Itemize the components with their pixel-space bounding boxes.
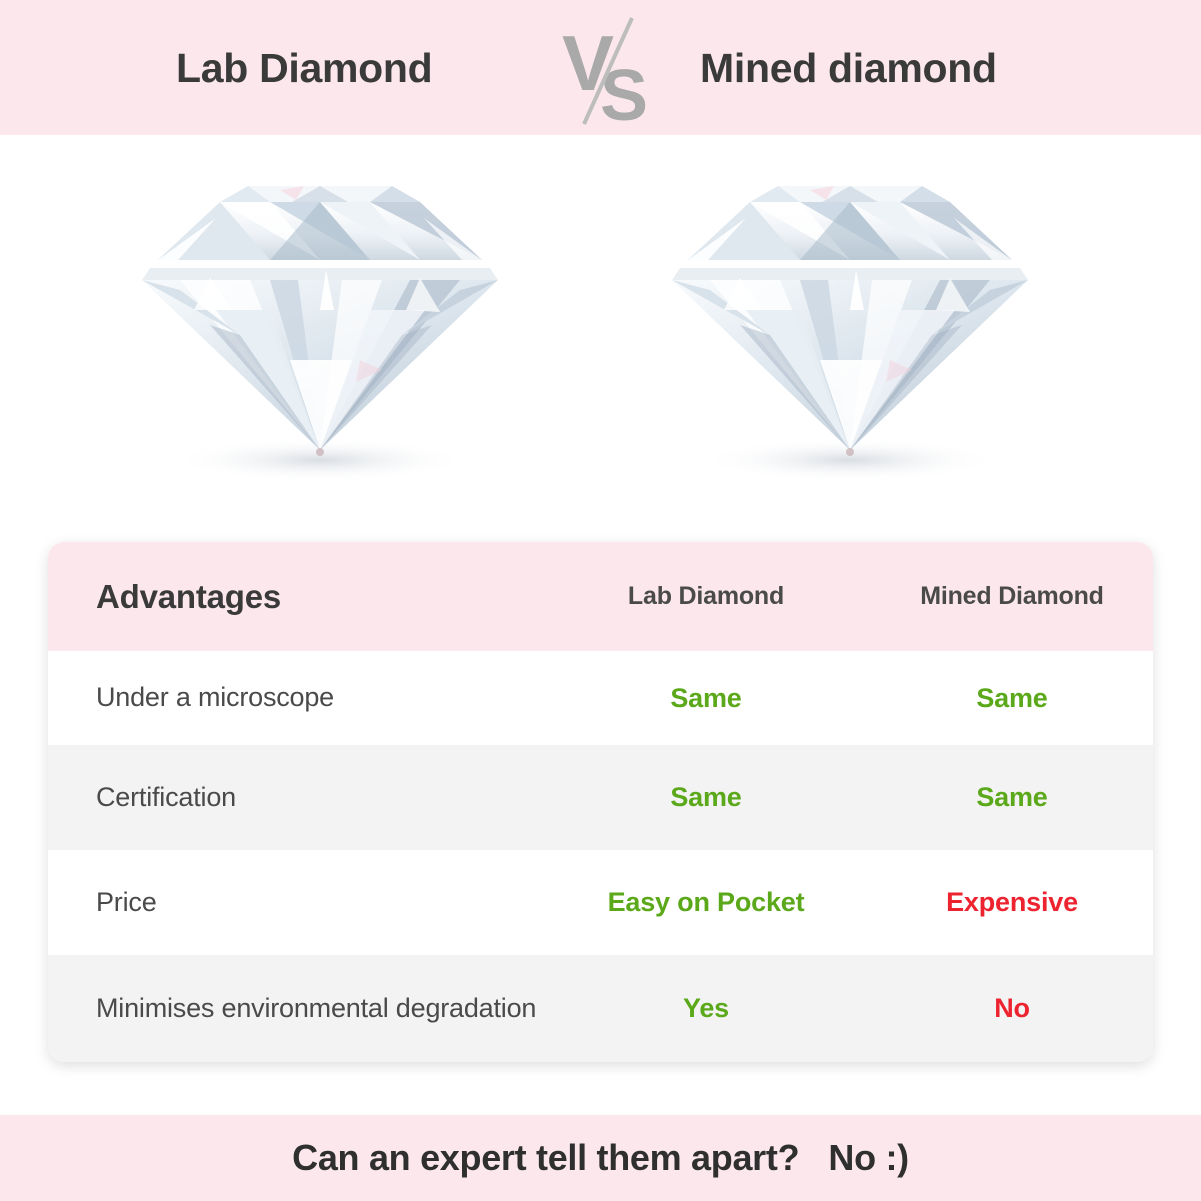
feature-cell: Under a microscope (48, 651, 541, 745)
header-label-lab-diamond: Lab Diamond (628, 582, 784, 611)
header-cell-lab-diamond: Lab Diamond (541, 542, 871, 651)
vs-icon: V S (556, 14, 664, 126)
lab-value-cell: Yes (541, 955, 871, 1062)
table-row: Price Easy on Pocket Expensive (48, 850, 1153, 955)
bottom-banner: Can an expert tell them apart? No :) (0, 1115, 1201, 1201)
mined-value-cell: Same (871, 651, 1153, 745)
table-row: Certification Same Same (48, 745, 1153, 850)
feature-cell: Price (48, 850, 541, 955)
table-header-row: Advantages Lab Diamond Mined Diamond (48, 542, 1153, 651)
footer-question: Can an expert tell them apart? No :) (292, 1137, 909, 1179)
mined-diamond-title: Mined diamond (700, 45, 997, 92)
mined-value-cell: Same (871, 745, 1153, 850)
header-label-mined-diamond: Mined Diamond (920, 582, 1104, 611)
lab-value-cell: Easy on Pocket (541, 850, 871, 955)
table-row: Minimises environmental degradation Yes … (48, 955, 1153, 1062)
svg-text:S: S (600, 56, 648, 126)
feature-label: Minimises environmental degradation (96, 990, 536, 1027)
lab-value-cell: Same (541, 745, 871, 850)
diamond-stage (0, 135, 1201, 530)
comparison-card: Advantages Lab Diamond Mined Diamond Und… (48, 542, 1153, 1062)
banner-inner: Lab Diamond V S Mined diamond (0, 0, 1201, 135)
lab-value: Same (670, 782, 741, 813)
mined-diamond-image (650, 160, 1050, 510)
lab-value-cell: Same (541, 651, 871, 745)
mined-value: Same (976, 683, 1047, 714)
mined-value-cell: Expensive (871, 850, 1153, 955)
header-label-advantages: Advantages (96, 578, 281, 616)
mined-value-cell: No (871, 955, 1153, 1062)
top-banner: Lab Diamond V S Mined diamond (0, 0, 1201, 135)
mined-value: Expensive (946, 887, 1078, 918)
lab-diamond-title: Lab Diamond (176, 45, 432, 92)
feature-cell: Certification (48, 745, 541, 850)
lab-value: Same (670, 683, 741, 714)
table-row: Under a microscope Same Same (48, 651, 1153, 745)
feature-label: Certification (96, 779, 236, 816)
feature-label: Price (96, 884, 157, 921)
comparison-table: Advantages Lab Diamond Mined Diamond Und… (48, 542, 1153, 1062)
mined-value: No (994, 993, 1030, 1024)
header-cell-advantages: Advantages (48, 542, 541, 651)
lab-value: Yes (683, 993, 729, 1024)
feature-label: Under a microscope (96, 679, 334, 716)
header-cell-mined-diamond: Mined Diamond (871, 542, 1153, 651)
mined-value: Same (976, 782, 1047, 813)
lab-diamond-image (120, 160, 520, 510)
feature-cell: Minimises environmental degradation (48, 955, 541, 1062)
lab-value: Easy on Pocket (608, 887, 805, 918)
